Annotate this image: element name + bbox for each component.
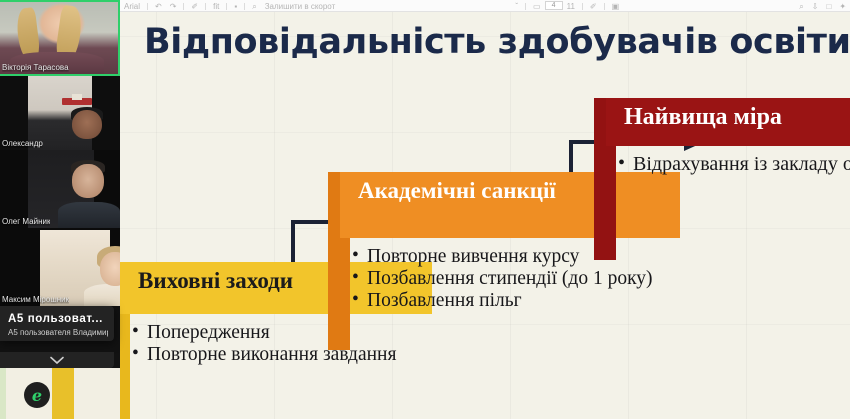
video-feed-detail [72, 110, 102, 139]
tooltip-title: А5 пользоват... [8, 313, 108, 325]
zoom-select[interactable]: fit [209, 0, 223, 11]
image-icon[interactable]: ▣ [608, 0, 624, 11]
slide-number-field[interactable]: 4 [545, 1, 563, 10]
toolbar-right-group: ⌕ ⇩ □ ✦ [795, 0, 850, 11]
toolbar-divider [525, 3, 526, 10]
screen-share-window: Arial ↶ ↷ ✐ fit ▪ ⌕ Залишити в скорот ˇ … [0, 0, 850, 419]
list-item: Відрахування із закладу освіти [618, 154, 850, 176]
toolbar-divider [582, 3, 583, 10]
paint-format-icon[interactable]: ✐ [187, 0, 202, 11]
video-tile-active-speaker[interactable]: Вікторія Тарасова [0, 0, 120, 76]
undo-icon[interactable]: ↶ [151, 0, 166, 11]
redo-icon[interactable]: ↷ [166, 0, 181, 11]
font-size-field[interactable]: 11 [563, 0, 579, 11]
toolbar-divider [183, 3, 184, 10]
toolbar-divider [205, 3, 206, 10]
toolbar-divider [147, 3, 148, 10]
download-icon[interactable]: ⇩ [808, 0, 823, 11]
participant-name: Вікторія Тарасова [2, 63, 69, 72]
video-feed-detail [72, 164, 104, 198]
comment-icon[interactable]: ⌕ [248, 0, 260, 11]
participant-name: Олег Майник [2, 217, 50, 226]
toolbar-font-name[interactable]: Arial [120, 0, 144, 11]
comment-label[interactable]: Залишити в скорот [261, 0, 340, 11]
more-options-icon[interactable]: ✦ [835, 0, 850, 11]
search-icon[interactable]: ⌕ [795, 0, 807, 11]
video-feed-detail [84, 284, 120, 306]
fullscreen-icon[interactable]: □ [822, 0, 835, 11]
toolbar-divider [604, 3, 605, 10]
video-feed-detail [58, 202, 120, 228]
toolbar-divider [244, 3, 245, 10]
participant-name: Олександр [2, 139, 43, 148]
list-item: Позбавлення пільг [352, 290, 708, 311]
tooltip-subtitle: А5 пользователя Владимир [8, 328, 108, 337]
expand-participants-button[interactable] [0, 352, 114, 368]
bold-icon[interactable]: ▪ [230, 0, 241, 11]
app-logo-icon[interactable]: e [24, 382, 50, 408]
link-icon[interactable]: ✐ [586, 0, 601, 11]
video-tile[interactable]: Олег Майник [0, 150, 120, 228]
page-title: Відповідальність здобувачів освіти [144, 22, 850, 62]
stage-heading-red: Найвища міра [606, 98, 850, 146]
stage-card-red[interactable]: Найвища міра Відрахування із закладу осв… [594, 98, 850, 273]
layout-icon[interactable]: ▭ [529, 0, 545, 11]
video-panel-footer: e [0, 368, 120, 419]
participant-name: Максим Мірошник [2, 295, 69, 304]
chevron-down-icon[interactable]: ˇ [511, 0, 522, 11]
participants-tooltip: А5 пользоват... А5 пользователя Владимир [0, 306, 114, 341]
chevron-down-icon [50, 356, 64, 365]
video-feed-detail [72, 94, 82, 100]
slide-canvas[interactable]: Відповідальність здобувачів освіти Вихов… [120, 12, 850, 419]
presentation-toolbar: Arial ↶ ↷ ✐ fit ▪ ⌕ Залишити в скорот ˇ … [120, 0, 850, 12]
video-feed-detail [100, 252, 120, 286]
toolbar-left-group: Arial ↶ ↷ ✐ fit ▪ ⌕ Залишити в скорот [120, 0, 339, 11]
video-tile[interactable]: Максим Мірошник [0, 228, 120, 306]
toolbar-divider [226, 3, 227, 10]
video-tile[interactable]: Олександр [0, 76, 120, 150]
stage-bullets-red: Відрахування із закладу освіти [618, 154, 850, 177]
toolbar-center-group: ˇ ▭ 4 11 ✐ ▣ [511, 0, 623, 11]
